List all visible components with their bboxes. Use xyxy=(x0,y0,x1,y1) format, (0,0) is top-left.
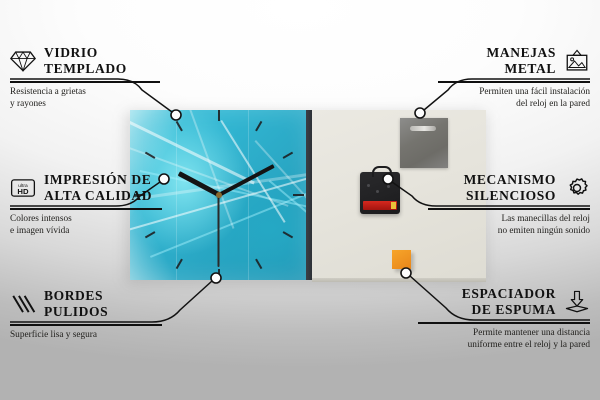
feature-title: MECANISMO SILENCIOSO xyxy=(464,172,556,205)
feature-title: IMPRESIÓN DE ALTA CALIDAD xyxy=(44,172,152,205)
feature-head: BORDES PULIDOS xyxy=(10,288,162,321)
feature-head: MECANISMO SILENCIOSO xyxy=(428,172,590,205)
title-line-1: BORDES xyxy=(44,288,108,304)
title-line-1: MECANISMO xyxy=(464,172,556,188)
clock-second-hand xyxy=(218,195,220,267)
divider xyxy=(10,324,162,326)
sub-line-2: no emiten ningún sonido xyxy=(428,225,590,238)
feature-subtitle: Las manecillas del reloj no emiten ningú… xyxy=(428,213,590,238)
feature-subtitle: Permite mantener una distancia uniforme … xyxy=(418,327,590,352)
icon-text-bottom: HD xyxy=(17,188,29,197)
picture-hanger-icon xyxy=(564,49,590,73)
title-line-2: ALTA CALIDAD xyxy=(44,188,152,204)
foam-spacer-icon xyxy=(564,290,590,314)
feature-subtitle: Superficie lisa y segura xyxy=(10,329,162,342)
hanger-slot xyxy=(410,126,436,131)
feature-head: ESPACIADOR DE ESPUMA xyxy=(418,286,590,319)
feature-title: BORDES PULIDOS xyxy=(44,288,108,321)
divider xyxy=(428,208,590,210)
title-line-1: MANEJAS xyxy=(487,45,556,61)
title-line-2: PULIDOS xyxy=(44,304,108,320)
sub-line-1: Permite mantener una distancia xyxy=(418,327,590,340)
title-line-2: METAL xyxy=(487,61,556,77)
gear-icon xyxy=(564,176,590,200)
feature-mecanismo-silencioso: MECANISMO SILENCIOSO Las manecillas del … xyxy=(428,172,590,238)
diamond-icon xyxy=(10,49,36,73)
title-line-2: DE ESPUMA xyxy=(462,302,556,318)
sub-line-2: uniforme entre el reloj y la pared xyxy=(418,339,590,352)
feature-head: MANEJAS METAL xyxy=(438,45,590,78)
feature-title: MANEJAS METAL xyxy=(487,45,556,78)
feature-vidrio-templado: VIDRIO TEMPLADO Resistencia a grietas y … xyxy=(10,45,160,111)
divider xyxy=(10,208,162,210)
feature-subtitle: Colores intensos e imagen vívida xyxy=(10,213,162,238)
mechanism-handle xyxy=(372,166,392,177)
feature-impresion-alta-calidad: ultra HD IMPRESIÓN DE ALTA CALIDAD Color… xyxy=(10,172,162,238)
foam-spacer xyxy=(392,250,411,269)
feature-head: VIDRIO TEMPLADO xyxy=(10,45,160,78)
feature-subtitle: Permiten una fácil instalación del reloj… xyxy=(438,86,590,111)
divider xyxy=(438,81,590,83)
polished-edges-icon xyxy=(10,292,36,316)
mechanism-battery xyxy=(363,201,397,210)
sub-line-1: Colores intensos xyxy=(10,213,162,226)
clock-pivot xyxy=(216,192,222,198)
feature-manejas-metal: MANEJAS METAL Permiten una fácil instala… xyxy=(438,45,590,111)
divider xyxy=(10,81,160,83)
clock-mechanism xyxy=(360,172,400,214)
sub-line-2: del reloj en la pared xyxy=(438,98,590,111)
sub-line-1: Las manecillas del reloj xyxy=(428,213,590,226)
title-line-1: ESPACIADOR xyxy=(462,286,556,302)
panel-bottom-edge xyxy=(312,278,486,282)
title-line-1: IMPRESIÓN DE xyxy=(44,172,152,188)
sub-line-2: e imagen vívida xyxy=(10,225,162,238)
title-line-1: VIDRIO xyxy=(44,45,127,61)
sub-line-2: y rayones xyxy=(10,98,160,111)
title-line-2: TEMPLADO xyxy=(44,61,127,77)
ultra-hd-icon: ultra HD xyxy=(10,176,36,200)
title-line-2: SILENCIOSO xyxy=(464,188,556,204)
divider xyxy=(418,322,590,324)
feature-subtitle: Resistencia a grietas y rayones xyxy=(10,86,160,111)
sub-line-1: Superficie lisa y segura xyxy=(10,329,162,342)
metal-hanger xyxy=(400,118,448,168)
sub-line-1: Permiten una fácil instalación xyxy=(438,86,590,99)
sub-line-1: Resistencia a grietas xyxy=(10,86,160,99)
feature-title: VIDRIO TEMPLADO xyxy=(44,45,127,78)
feature-bordes-pulidos: BORDES PULIDOS Superficie lisa y segura xyxy=(10,288,162,341)
feature-head: ultra HD IMPRESIÓN DE ALTA CALIDAD xyxy=(10,172,162,205)
feature-title: ESPACIADOR DE ESPUMA xyxy=(462,286,556,319)
infographic-canvas: VIDRIO TEMPLADO Resistencia a grietas y … xyxy=(0,0,600,400)
feature-espaciador-espuma: ESPACIADOR DE ESPUMA Permite mantener un… xyxy=(418,286,590,352)
